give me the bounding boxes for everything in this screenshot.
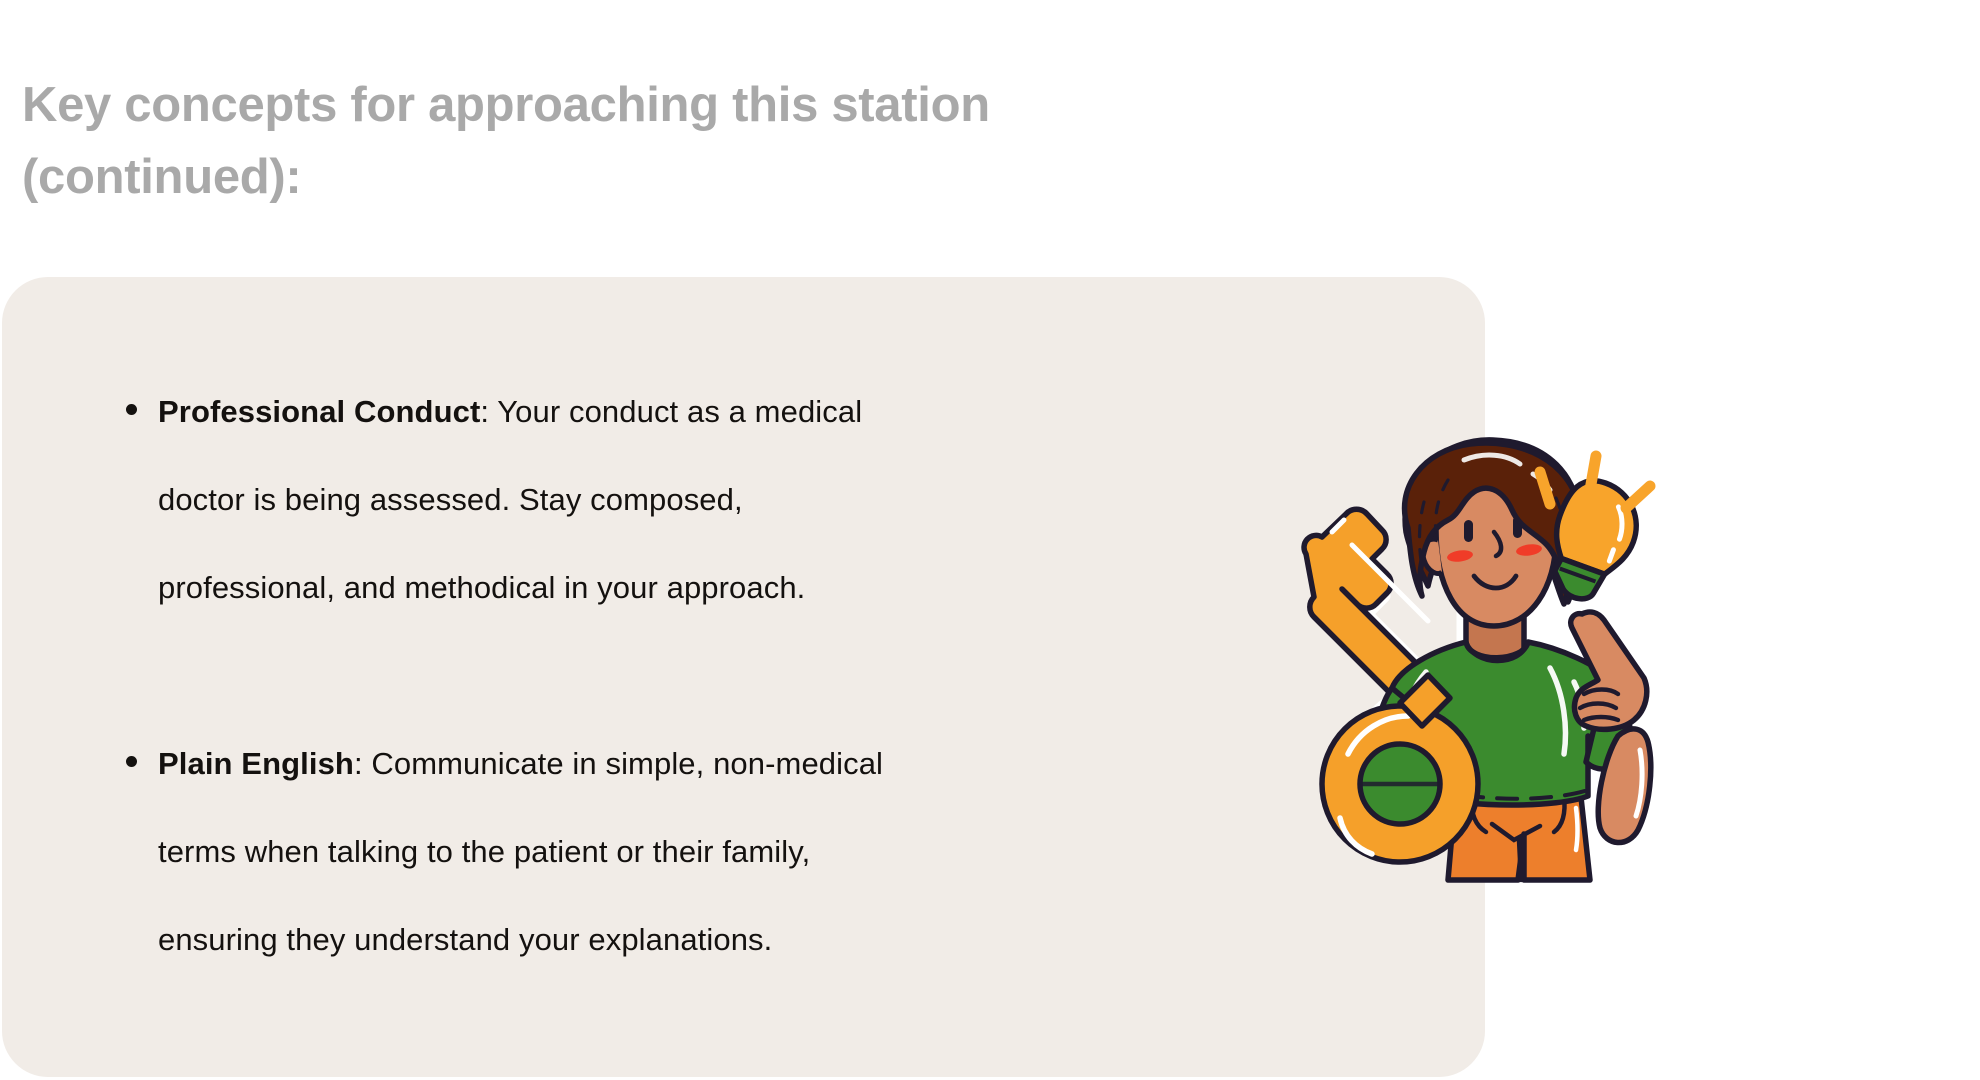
list-item-term: Plain English	[158, 746, 354, 781]
list-item-term: Professional Conduct	[158, 394, 480, 429]
page-title-line-2: (continued):	[22, 141, 1562, 214]
person-holding-key-with-idea-lightbulb-illustration	[1288, 436, 1698, 896]
list-item: Plain English: Communicate in simple, no…	[110, 720, 1190, 984]
page-title-line-1: Key concepts for approaching this statio…	[22, 69, 1562, 142]
list-item-text-line-1: : Communicate in simple, non-medical	[354, 746, 883, 781]
list-item: Professional Conduct: Your conduct as a …	[110, 368, 1190, 632]
pants-highlight	[1576, 808, 1578, 850]
bullet-dot-icon	[126, 404, 137, 415]
key-concepts-list: Professional Conduct: Your conduct as a …	[110, 368, 1190, 984]
bullet-dot-icon	[126, 756, 137, 767]
page-title: Key concepts for approaching this statio…	[22, 69, 1562, 214]
list-item-text-line-2: terms when talking to the patient or the…	[158, 834, 810, 869]
list-item-text-line-3: professional, and methodical in your app…	[158, 570, 805, 605]
list-item-text-line-3: ensuring they understand your explanatio…	[158, 922, 772, 957]
slide-root: Key concepts for approaching this statio…	[0, 0, 1980, 1080]
list-item-text-line-2: doctor is being assessed. Stay composed,	[158, 482, 743, 517]
list-item-text-line-1: : Your conduct as a medical	[480, 394, 862, 429]
key-ring	[1322, 706, 1478, 862]
